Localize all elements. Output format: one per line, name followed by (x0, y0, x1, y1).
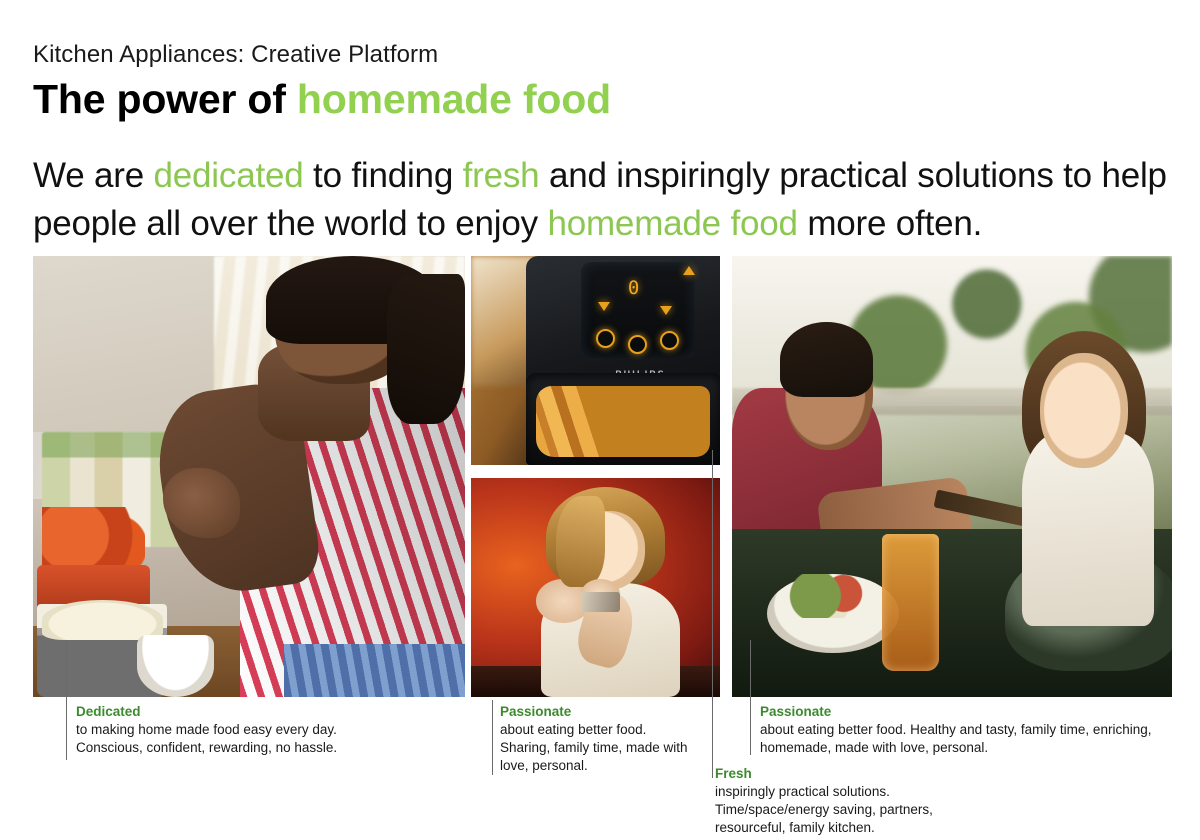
caption-line: homemade, made with love, personal. (760, 739, 1170, 757)
caption-line: to making home made food easy every day. (76, 721, 446, 739)
lede-part-4: more often. (798, 204, 982, 243)
father-hair (780, 322, 872, 397)
caption-title: Passionate (760, 703, 1170, 721)
down-arrow-icon (683, 266, 695, 275)
leader-line-passionate-1 (492, 700, 493, 775)
lede-accent-fresh: fresh (463, 156, 540, 195)
drink-glass (882, 534, 939, 671)
caption-line: resourceful, family kitchen. (715, 819, 975, 837)
caption-line: Sharing, family time, made with (500, 739, 705, 757)
lede-part-1: We are (33, 156, 154, 195)
photo-girl-tasting-snack (471, 478, 720, 697)
caption-line: about eating better food. Healthy and ta… (760, 721, 1170, 739)
page-title: The power of homemade food (33, 74, 611, 124)
spring-rolls-food (536, 386, 710, 457)
daughter-face (1040, 353, 1128, 468)
white-bowl (137, 635, 215, 697)
headline-plain: The power of (33, 76, 297, 122)
caption-passionate-right: Passionate about eating better food. Hea… (760, 703, 1170, 757)
caption-title: Dedicated (76, 703, 446, 721)
lede-accent-dedicated: dedicated (154, 156, 304, 195)
snack-item (581, 592, 621, 612)
photo-woman-cooking-kitchen (33, 256, 465, 697)
rice-in-pot (42, 600, 163, 640)
up-arrow-icon (660, 306, 672, 315)
airfryer-display-value: 0 (628, 277, 638, 299)
slide-eyebrow: Kitchen Appliances: Creative Platform (33, 40, 438, 70)
caption-dedicated: Dedicated to making home made food easy … (76, 703, 446, 757)
caption-line: Time/space/energy saving, partners, (715, 801, 975, 819)
leader-line-passionate-2 (750, 640, 751, 755)
headline-accent: homemade food (297, 76, 611, 122)
caption-line: about eating better food. (500, 721, 705, 739)
caption-title: Passionate (500, 703, 705, 721)
caption-passionate-middle: Passionate about eating better food. Sha… (500, 703, 705, 775)
caption-title: Fresh (715, 765, 975, 783)
up-arrow-icon (598, 302, 610, 311)
caption-fresh: Fresh inspiringly practical solutions. T… (715, 765, 975, 837)
salad-food (789, 574, 877, 618)
dial-icon (596, 329, 615, 348)
caption-line: love, personal. (500, 757, 705, 775)
woman-hair-side (387, 274, 465, 424)
caption-line: inspiringly practical solutions. (715, 783, 975, 801)
lede-accent-homemade-food: homemade food (547, 204, 797, 243)
photo-family-eating-outdoors (732, 256, 1172, 697)
lede-part-2: to finding (304, 156, 463, 195)
girl-hair-front (556, 496, 606, 588)
slide-lede: We are dedicated to finding fresh and in… (33, 152, 1173, 248)
leader-line-fresh (712, 450, 713, 778)
caption-line: Conscious, confident, rewarding, no hass… (76, 739, 446, 757)
photo-philips-airfryer: 0 PHILIPS (471, 256, 720, 465)
blue-apron (284, 644, 465, 697)
leader-line-dedicated (66, 640, 67, 760)
